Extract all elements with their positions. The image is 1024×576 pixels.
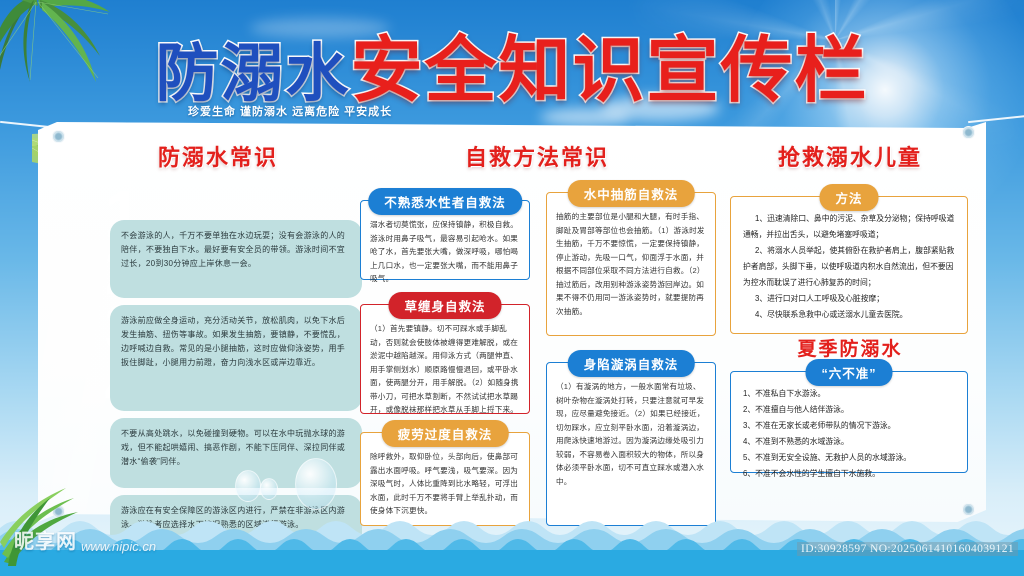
column3-heading: 抢救溺水儿童 [730,140,970,172]
rule-item: 4、不准到不熟悉的水域游泳。 [743,434,957,450]
rule-item: 1、不准私自下水游泳。 [743,386,957,402]
box-title: 草缠身自救法 [388,292,501,319]
rule-item: 2、不准擅自与他人结伴游泳。 [743,402,957,418]
title-part-red: 安全知识宣传栏 [350,30,868,111]
self-rescue-box: 草缠身自救法 （1）首先要镇静。切不可踩水或手脚乱动，否则就会使肢体被缠得更难解… [360,304,530,414]
prevention-card: 游泳前应做全身运动，充分活动关节，放松肌肉，以免下水后发生抽筋、扭伤等事故。如果… [110,305,362,411]
self-rescue-box: 不熟悉水性者自救法 溺水者切莫慌张，应保持镇静，积极自救。游泳时用鼻子吸气，最容… [360,200,530,280]
leaf-decoration-icon [0,478,120,568]
box-body: 抽筋的主要部位是小腿和大腿，有时手指、脚趾及胃部等部位也会抽筋。（1）游泳时发生… [547,193,715,326]
rule-item: 6、不准不会水性的学生擅自下水施救。 [743,466,957,482]
self-rescue-box: 身陷漩涡自救法 （1）有漩涡的地方，一般水面常有垃圾、树叶杂物在漩涡处打转，只要… [546,362,716,526]
box-title: 方法 [819,184,878,211]
method-item: 2、将溺水人员举起，使其俯卧在救护者肩上，腹部紧贴救护者肩部，头脚下垂，以使呼吸… [743,243,957,291]
water-waves [0,504,1024,576]
bubble-decoration [295,458,337,510]
grommet-top-right [962,126,975,139]
bubble-decoration [260,478,278,500]
image-id-tag: ID:30928597 NO:20250614101604039121 [797,542,1018,556]
summer-heading: 夏季防溺水 [730,334,970,361]
column-self-rescue: 自救方法常识 不熟悉水性者自救法 溺水者切莫慌张，应保持镇静，积极自救。游泳时用… [360,140,714,512]
rescue-method-list: 1、迅速清除口、鼻中的污泥、杂草及分泌物；保持呼吸道通畅，并拉出舌头，以避免堵塞… [731,197,967,331]
rope-right [968,115,1024,123]
cloud-3 [250,18,390,38]
method-item: 3、进行口对口人工呼吸及心脏按摩； [743,291,957,307]
box-title: 不熟悉水性者自救法 [368,188,522,215]
cloud-2 [540,108,630,126]
method-item: 4、尽快联系急救中心或送溺水儿童去医院。 [743,307,957,323]
rule-item: 3、不准在无家长或老师带队的情况下游泳。 [743,418,957,434]
rule-item: 5、不准到无安全设施、无救护人员的水域游泳。 [743,450,957,466]
box-title: 水中抽筋自救法 [568,180,695,207]
grommet-top-left [52,130,65,143]
box-body: （1）有漩涡的地方，一般水面常有垃圾、树叶杂物在漩涡处打转，只要注意就可早发现，… [547,363,715,496]
bubble-decoration [235,470,261,502]
six-rules-list: 1、不准私自下水游泳。 2、不准擅自与他人结伴游泳。 3、不准在无家长或老师带队… [731,372,967,490]
title-part-blue: 防溺水 [155,39,350,110]
method-item: 1、迅速清除口、鼻中的污泥、杂草及分泌物；保持呼吸道通畅，并拉出舌头，以避免堵塞… [743,211,957,243]
box-title: 身陷漩涡自救法 [568,350,695,377]
box-body: （1）首先要镇静。切不可踩水或手脚乱动，否则就会使肢体被缠得更难解脱，或在淤泥中… [361,305,529,425]
cloud-1 [600,95,720,121]
column-rescue: 抢救溺水儿童 方法 1、迅速清除口、鼻中的污泥、杂草及分泌物；保持呼吸道通畅，并… [730,140,970,473]
poster-title: 防溺水安全知识宣传栏 [0,30,1024,111]
rescue-method-box: 方法 1、迅速清除口、鼻中的污泥、杂草及分泌物；保持呼吸道通畅，并拉出舌头，以避… [730,196,968,334]
self-rescue-boxes: 不熟悉水性者自救法 溺水者切莫慌张，应保持镇静，积极自救。游泳时用鼻子吸气，最容… [360,182,714,512]
box-title: 疲劳过度自救法 [382,420,509,447]
self-rescue-box: 水中抽筋自救法 抽筋的主要部位是小腿和大腿，有时手指、脚趾及胃部等部位也会抽筋。… [546,192,716,336]
poster-subtitle: 珍爱生命 谨防溺水 远离危险 平安成长 [188,103,488,119]
column1-heading: 防溺水常识 [92,140,344,172]
six-rules-box: “六不准” 1、不准私自下水游泳。 2、不准擅自与他人结伴游泳。 3、不准在无家… [730,371,968,473]
prevention-card: 不会游泳的人，千万不要单独在水边玩耍；没有会游泳的人的陪伴，不要独自下水。最好要… [110,220,362,298]
box-title: “六不准” [805,359,892,386]
column2-heading: 自救方法常识 [360,140,714,172]
